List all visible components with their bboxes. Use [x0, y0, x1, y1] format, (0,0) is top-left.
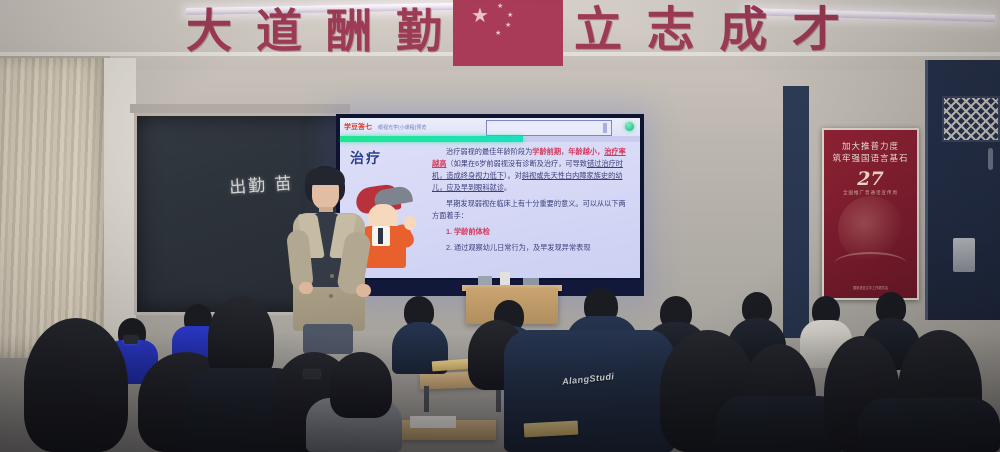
wall-panel-dark: [783, 86, 809, 338]
banner-text-right: 立 志 成 才: [574, 6, 844, 54]
progress-bar-track[interactable]: [340, 136, 640, 142]
open-book: [524, 421, 579, 438]
slide-title: 治疗: [350, 148, 382, 168]
national-flag-icon: ★ ★ ★ ★ ★: [453, 0, 563, 48]
text-caret-icon: [603, 123, 607, 133]
left-wall-strip: [104, 58, 136, 348]
slide-paragraph-2: 早期发现弱视在临床上有十分重要的意义。可以从以下两方面着手：: [432, 198, 628, 222]
student-head: [24, 318, 128, 452]
desk-leg: [424, 386, 429, 412]
hair-clip: [124, 336, 138, 344]
promotion-poster: 加大推普力度 筑牢强国语言基石 27 全国推广普通话宣传周 国家语言文字工作委员…: [822, 128, 919, 300]
door-push-plate[interactable]: [953, 238, 975, 272]
student-body: [858, 398, 1000, 452]
student-head: [330, 352, 392, 418]
app-logo: 学豆答七: [344, 122, 372, 132]
progress-bar-fill: [340, 136, 523, 142]
hair-clip: [304, 370, 320, 378]
poster-number: 27: [824, 168, 917, 190]
slide-paragraph-1: 治疗弱视的最佳年龄阶段为学龄前期，年龄越小，治疗率越高（如果在6岁前弱视没有诊断…: [432, 146, 628, 194]
poster-line-2: 筑牢强国语言基石: [824, 152, 917, 164]
window-curtain: [0, 58, 105, 358]
sync-status-icon[interactable]: [625, 122, 634, 131]
banner-text-left: 大 道 酬 勤: [186, 8, 446, 54]
teacher: [283, 166, 375, 351]
app-subtitle: 眼视光学(小课程)预览: [378, 124, 426, 131]
door-handle[interactable]: [988, 148, 993, 170]
blackboard-frame-top: [130, 104, 350, 113]
slide-body: 治疗弱视的最佳年龄阶段为学龄前期，年龄越小，治疗率越高（如果在6岁前弱视没有诊断…: [432, 146, 628, 258]
national-flag-lower: [453, 48, 563, 66]
poster-arc-graphic: [834, 252, 907, 276]
classroom-scene: 大 道 酬 勤 ★ ★ ★ ★ ★ 立 志 成 才 出勤 苗 学豆答七 眼视光学…: [0, 0, 1000, 452]
paper-sheet: [410, 416, 456, 428]
slide-surface[interactable]: 学豆答七 眼视光学(小课程)预览 治疗 治疗弱视的最佳年龄阶段为学龄前期，年龄越…: [340, 118, 640, 278]
slide-list-item-1: 1. 学龄前体检: [432, 226, 628, 238]
door-grille-icon: [942, 96, 1000, 142]
url-input[interactable]: [486, 120, 612, 136]
projection-screen[interactable]: 学豆答七 眼视光学(小课程)预览 治疗 治疗弱视的最佳年龄阶段为学龄前期，年龄越…: [336, 114, 644, 296]
slide-toolbar[interactable]: 学豆答七 眼视光学(小课程)预览: [340, 118, 640, 136]
slide-list-item-2: 2. 通过观察幼儿日常行为，及早发现异常表现: [432, 242, 628, 254]
poster-line-1: 加大推普力度: [824, 140, 917, 152]
poster-footer: 国家语言文字工作委员会: [824, 285, 917, 290]
